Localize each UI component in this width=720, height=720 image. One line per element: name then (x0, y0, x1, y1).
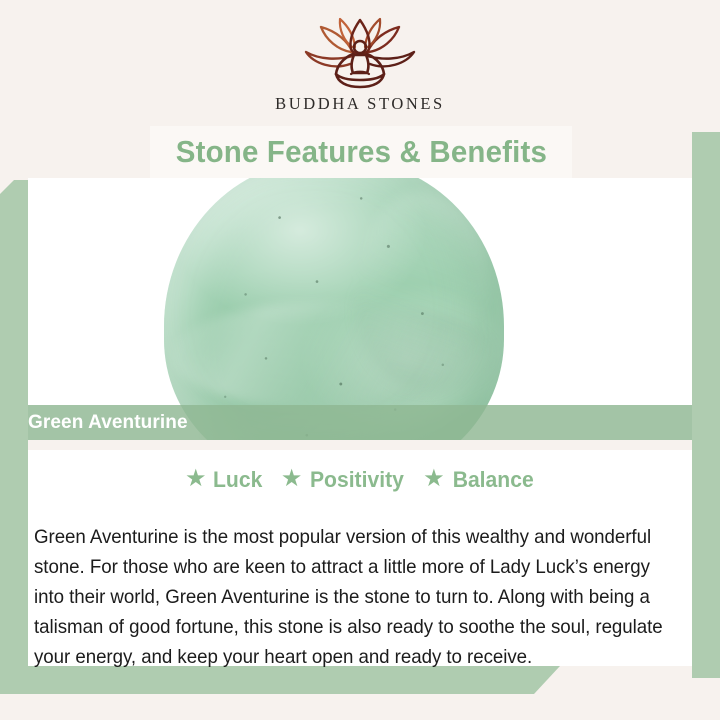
green-aventurine-stone-image (164, 178, 504, 440)
stone-features-infographic: BUDDHA STONES Stone Features & Benefits … (0, 0, 720, 720)
benefit-item-luck: ★ Luck (185, 467, 264, 493)
frame-accent-bar-right (692, 132, 720, 678)
benefit-item-positivity: ★ Positivity (281, 467, 406, 493)
page-title: Stone Features & Benefits (175, 134, 546, 170)
stone-name-label: Green Aventurine (28, 412, 188, 434)
brand-name: BUDDHA STONES (275, 94, 445, 114)
section-title-banner: Stone Features & Benefits (150, 126, 572, 178)
benefit-label-balance: Balance (452, 467, 533, 493)
stone-description-panel: ★ Luck ★ Positivity ★ Balance Green Aven… (28, 450, 692, 666)
frame-accent-bar-left (0, 180, 28, 680)
brand-header: BUDDHA STONES (0, 0, 720, 130)
stone-name-bar: Green Aventurine (28, 405, 692, 440)
benefit-label-luck: Luck (213, 467, 262, 493)
brand-logo: BUDDHA STONES (275, 16, 445, 114)
lotus-meditation-figure-icon (294, 16, 426, 90)
benefit-item-balance: ★ Balance (423, 467, 535, 493)
stone-speckle-texture (164, 178, 504, 440)
panel-divider-strip (28, 440, 692, 450)
star-icon: ★ (185, 467, 207, 491)
stone-description-text: Green Aventurine is the most popular ver… (34, 522, 669, 672)
benefit-label-positivity: Positivity (310, 467, 404, 493)
star-icon: ★ (281, 467, 303, 491)
star-icon: ★ (423, 467, 445, 491)
benefits-row: ★ Luck ★ Positivity ★ Balance (28, 467, 692, 493)
stone-image-panel (28, 178, 692, 440)
